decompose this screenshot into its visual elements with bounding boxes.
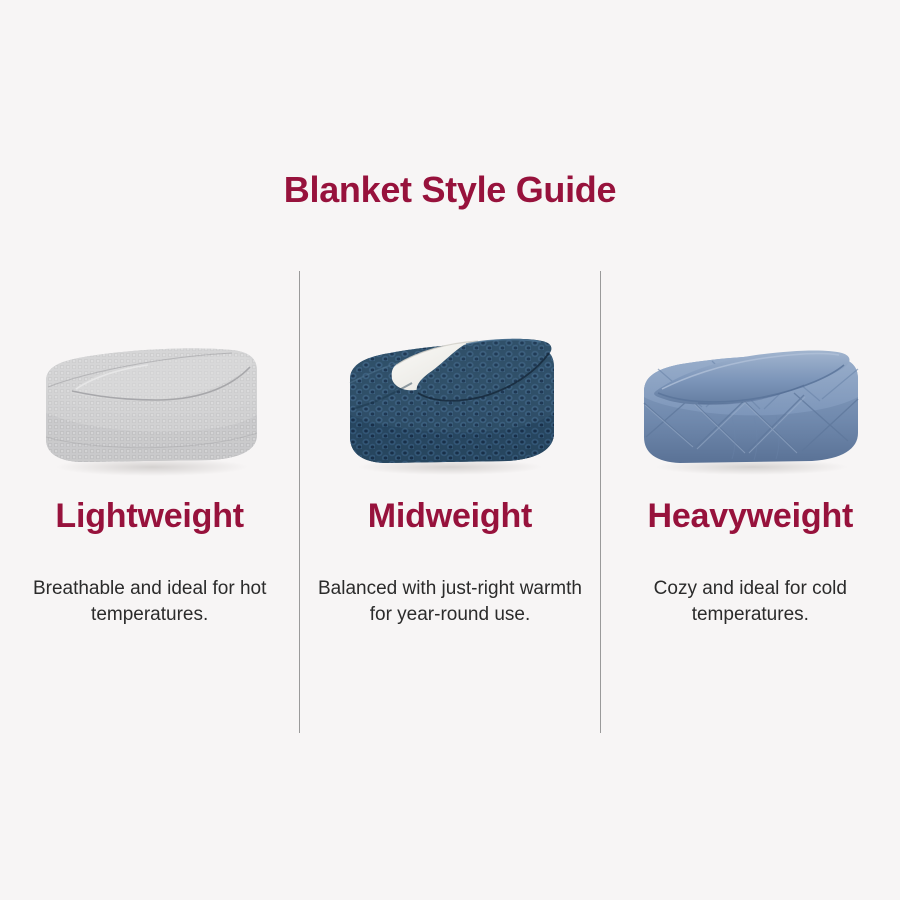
folded-heavyweight-quilted-weighted-blanket-blue-image <box>636 317 864 477</box>
blanket-style-guide-card: Blanket Style Guide <box>0 0 900 900</box>
blanket-columns: Lightweight Breathable and ideal for hot… <box>0 271 900 733</box>
column-description-lightweight: Breathable and ideal for hot temperature… <box>0 576 299 628</box>
column-description-midweight: Balanced with just-right warmth for year… <box>300 576 599 628</box>
column-heading-heavyweight: Heavyweight <box>601 496 900 536</box>
column-midweight[interactable]: Midweight Balanced with just-right warmt… <box>300 271 599 733</box>
image-stage-midweight <box>300 301 599 481</box>
column-description-heavyweight: Cozy and ideal for cold temperatures. <box>601 576 900 628</box>
column-lightweight[interactable]: Lightweight Breathable and ideal for hot… <box>0 271 299 733</box>
image-stage-lightweight <box>0 301 299 481</box>
column-heavyweight[interactable]: Heavyweight Cozy and ideal for cold temp… <box>601 271 900 733</box>
folded-lightweight-waffle-blanket-gray-image <box>36 317 264 477</box>
image-stage-heavyweight <box>601 301 900 481</box>
column-heading-lightweight: Lightweight <box>0 496 299 536</box>
folded-midweight-chunky-knit-blanket-teal-image <box>336 317 564 477</box>
page-title: Blanket Style Guide <box>0 168 900 212</box>
column-heading-midweight: Midweight <box>300 496 599 536</box>
